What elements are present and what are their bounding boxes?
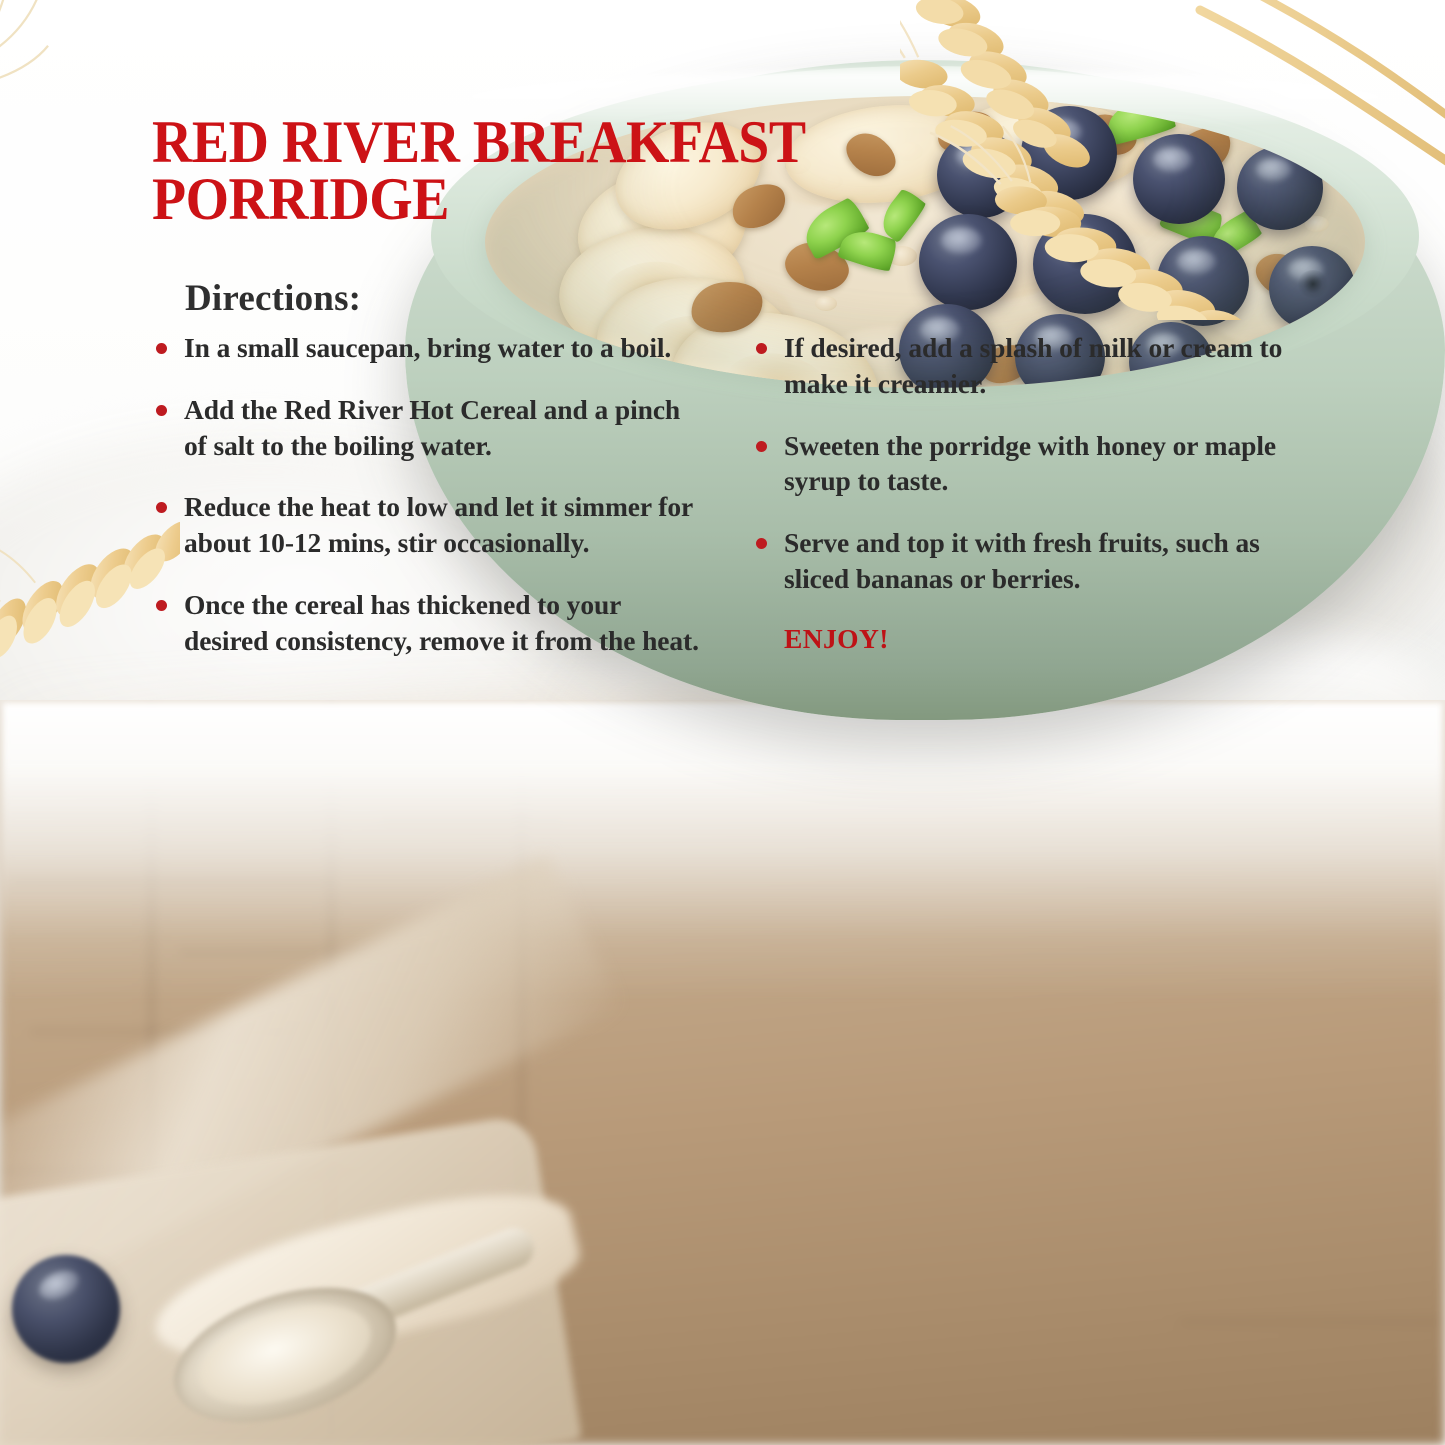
list-item: Once the cereal has thickened to your de… [148, 587, 708, 659]
directions-column-right: If desired, add a splash of milk or crea… [748, 330, 1318, 655]
page-title: RED RIVER BREAKFAST PORRIDGE [152, 114, 896, 228]
list-item: Serve and top it with fresh fruits, such… [748, 525, 1318, 597]
text-content-layer: RED RIVER BREAKFAST PORRIDGE Directions:… [0, 0, 1445, 1445]
list-item: In a small saucepan, bring water to a bo… [148, 330, 708, 366]
steps-list-right: If desired, add a splash of milk or crea… [748, 330, 1318, 597]
directions-heading: Directions: [185, 277, 361, 320]
list-item: If desired, add a splash of milk or crea… [748, 330, 1318, 402]
list-item: Reduce the heat to low and let it simmer… [148, 489, 708, 561]
steps-list-left: In a small saucepan, bring water to a bo… [148, 330, 708, 658]
directions-column-left: In a small saucepan, bring water to a bo… [148, 330, 708, 684]
enjoy-callout: ENJOY! [784, 623, 1318, 655]
recipe-card: RED RIVER BREAKFAST PORRIDGE Directions:… [0, 0, 1445, 1445]
list-item: Sweeten the porridge with honey or maple… [748, 428, 1318, 500]
list-item: Add the Red River Hot Cereal and a pinch… [148, 392, 708, 464]
